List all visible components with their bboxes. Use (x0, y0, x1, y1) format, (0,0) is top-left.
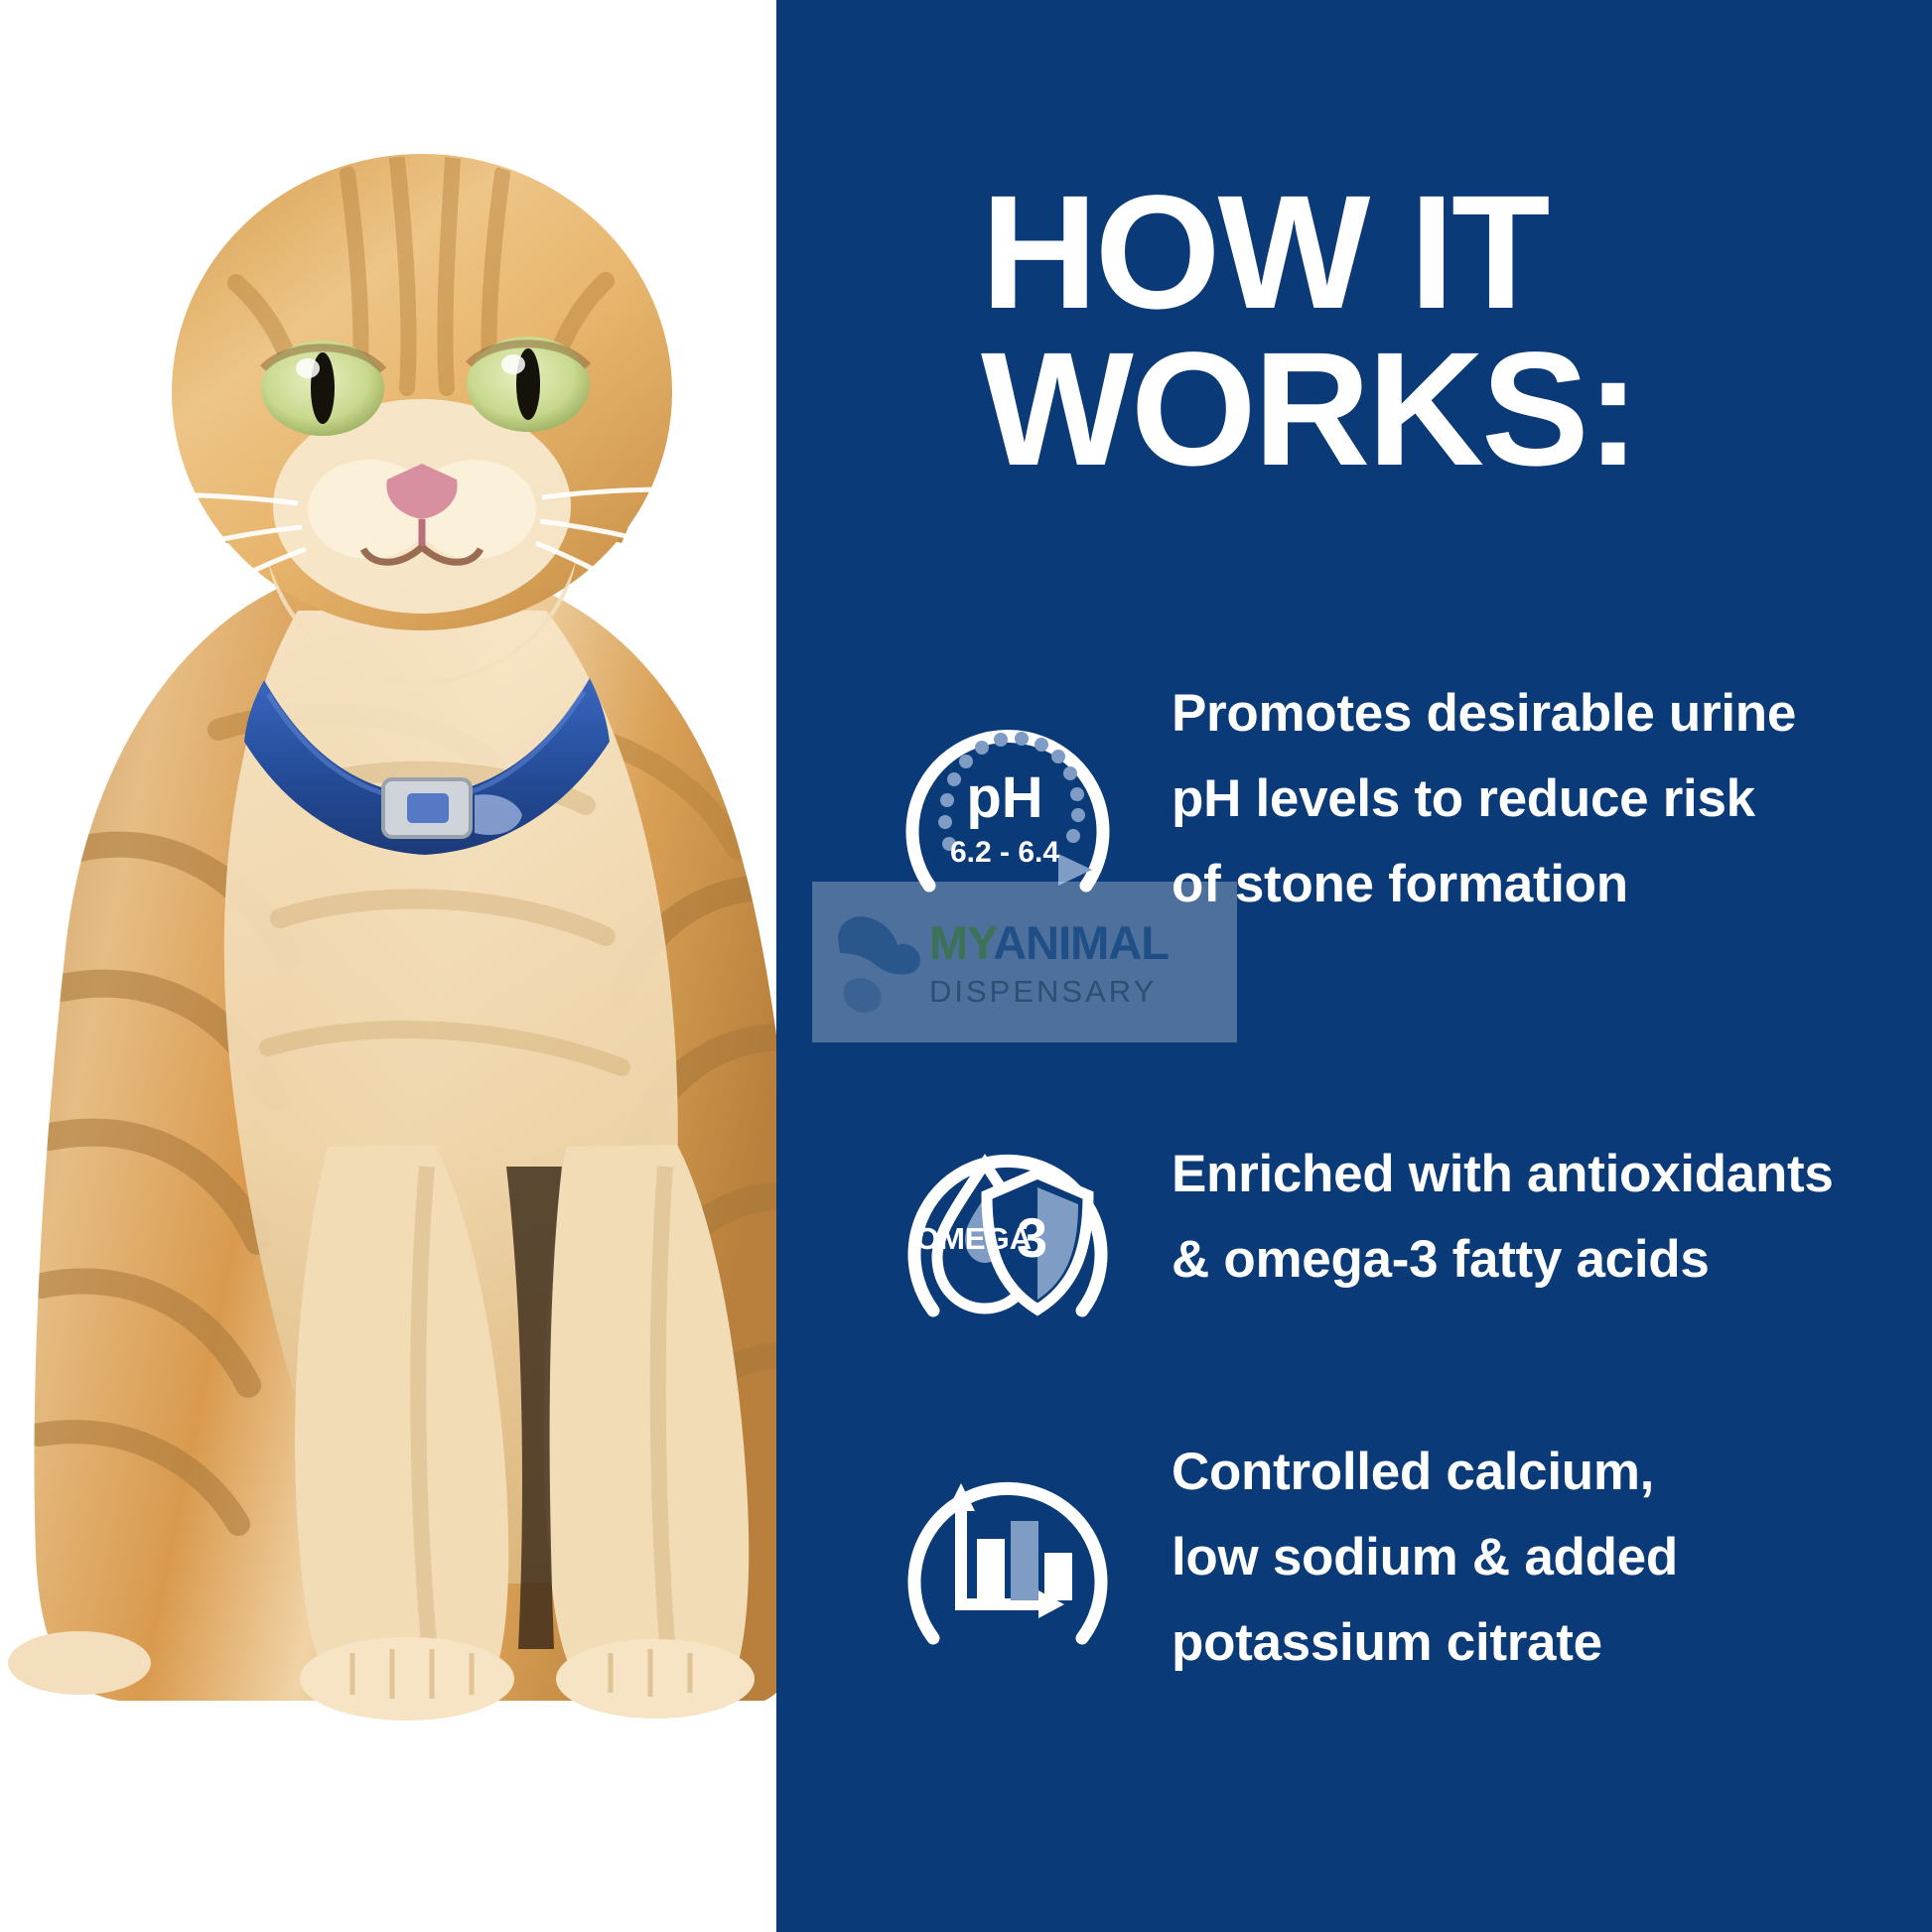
feature-omega-line1: Enriched with antioxidants (1172, 1132, 1866, 1217)
cat-illustration (0, 94, 776, 1782)
page-title: HOW IT WORKS: (981, 174, 1914, 487)
bar-chart-icon (894, 1440, 1122, 1668)
cat-head (40, 154, 776, 688)
watermark-brand: MYANIMAL (929, 919, 1169, 966)
feature-ph-line1: Promotes desirable urine (1172, 671, 1866, 757)
poster-root: HOW IT WORKS: (0, 0, 1932, 1932)
bar-2 (1011, 1521, 1038, 1600)
feature-text-ph: Promotes desirable urine pH levels to re… (1172, 671, 1866, 927)
omega-label: OMEGA (915, 1221, 1032, 1256)
ph-label: pH (966, 765, 1042, 830)
feature-omega-line2: & omega-3 fatty acids (1172, 1217, 1866, 1303)
photo-panel (0, 0, 776, 1932)
ph-range-label: 6.2 - 6.4 (950, 836, 1059, 869)
cat-paws (8, 1631, 755, 1721)
watermark-subtitle: DISPENSARY (929, 976, 1169, 1007)
feature-ph-line2: pH levels to reduce risk (1172, 757, 1866, 842)
omega3-shield-icon: OMEGA 3 (894, 1112, 1122, 1340)
feature-minerals-line2: low sodium & added (1172, 1515, 1866, 1600)
watermark-text: MYANIMAL DISPENSARY (929, 919, 1169, 1007)
bar-1 (977, 1539, 1005, 1600)
paw-dog-icon (824, 905, 933, 1023)
watermark: MYANIMAL DISPENSARY (812, 882, 1237, 1042)
feature-ph-line3: of stone formation (1172, 842, 1866, 927)
feature-text-omega: Enriched with antioxidants & omega-3 fat… (1172, 1132, 1866, 1303)
watermark-brand-first: MY (929, 916, 993, 969)
page-title-line2: WORKS: (981, 331, 1914, 487)
page-title-line1: HOW IT (981, 174, 1914, 331)
cat-body (8, 561, 776, 1721)
feature-minerals-line3: potassium citrate (1172, 1600, 1866, 1686)
omega-number: 3 (1017, 1206, 1047, 1269)
bar-3 (1044, 1553, 1072, 1600)
ph-gauge-icon: pH 6.2 - 6.4 (894, 685, 1122, 913)
feature-text-minerals: Controlled calcium, low sodium & added p… (1172, 1430, 1866, 1686)
feature-minerals-line1: Controlled calcium, (1172, 1430, 1866, 1515)
cat-photo (0, 0, 776, 1932)
watermark-brand-second: ANIMAL (993, 916, 1169, 969)
